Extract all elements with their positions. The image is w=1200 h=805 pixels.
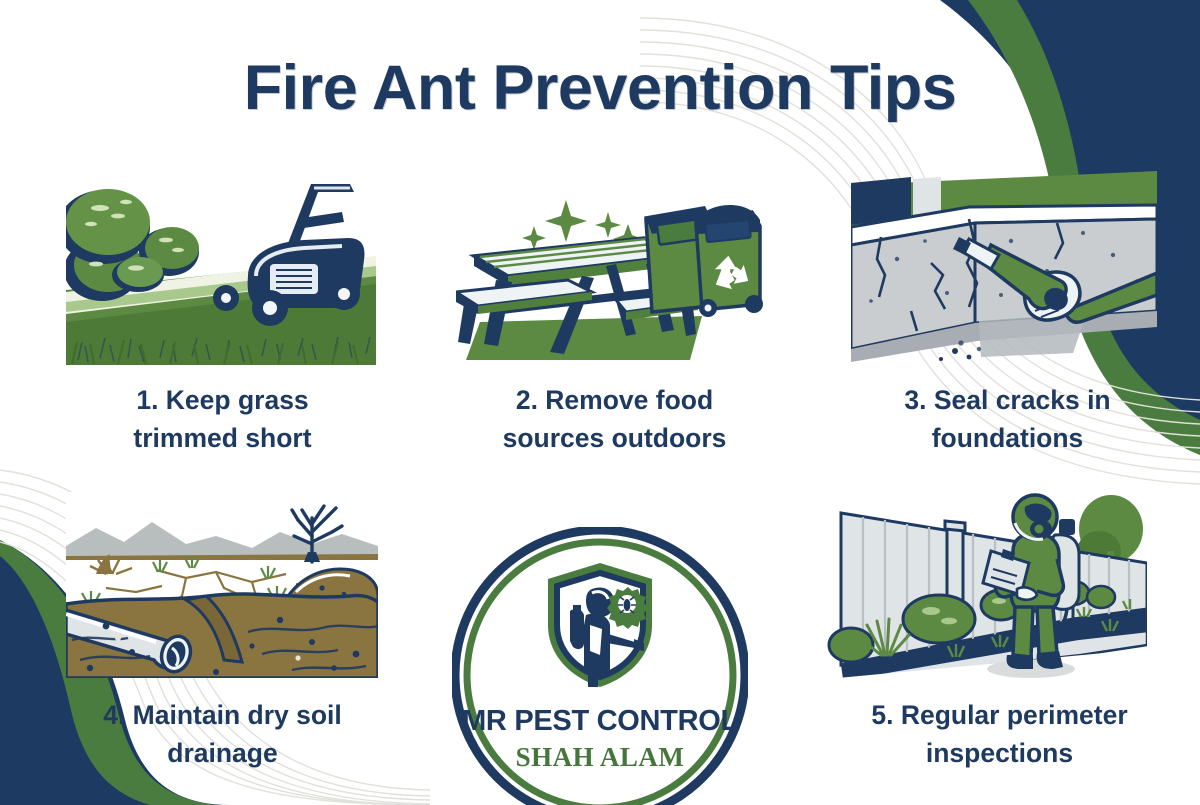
logo-badge: MR PEST CONTROL SHAH ALAM (452, 527, 748, 805)
foundation-crack-sealing-illustration (851, 171, 1157, 362)
lawn-mower-illustration (66, 172, 376, 365)
tip-caption-2: 2. Remove foodsources outdoors (432, 382, 797, 457)
shield-emblem-icon (540, 559, 660, 689)
tip-caption-4: 4. Maintain dry soildrainage (40, 697, 405, 772)
tip-caption-3: 3. Seal cracks infoundations (825, 382, 1190, 457)
dry-soil-drainage-illustration (66, 492, 378, 678)
logo-name-sub: SHAH ALAM (452, 742, 748, 773)
infographic-canvas: Fire Ant Prevention Tips (0, 0, 1200, 805)
perimeter-inspection-illustration (827, 489, 1147, 679)
tip-caption-5: 5. Regular perimeterinspections (812, 697, 1187, 772)
tip-caption-1: 1. Keep grasstrimmed short (40, 382, 405, 457)
page-title: Fire Ant Prevention Tips (0, 52, 1200, 124)
picnic-table-and-bins-illustration (456, 176, 776, 365)
logo-name-main: MR PEST CONTROL (452, 705, 748, 738)
